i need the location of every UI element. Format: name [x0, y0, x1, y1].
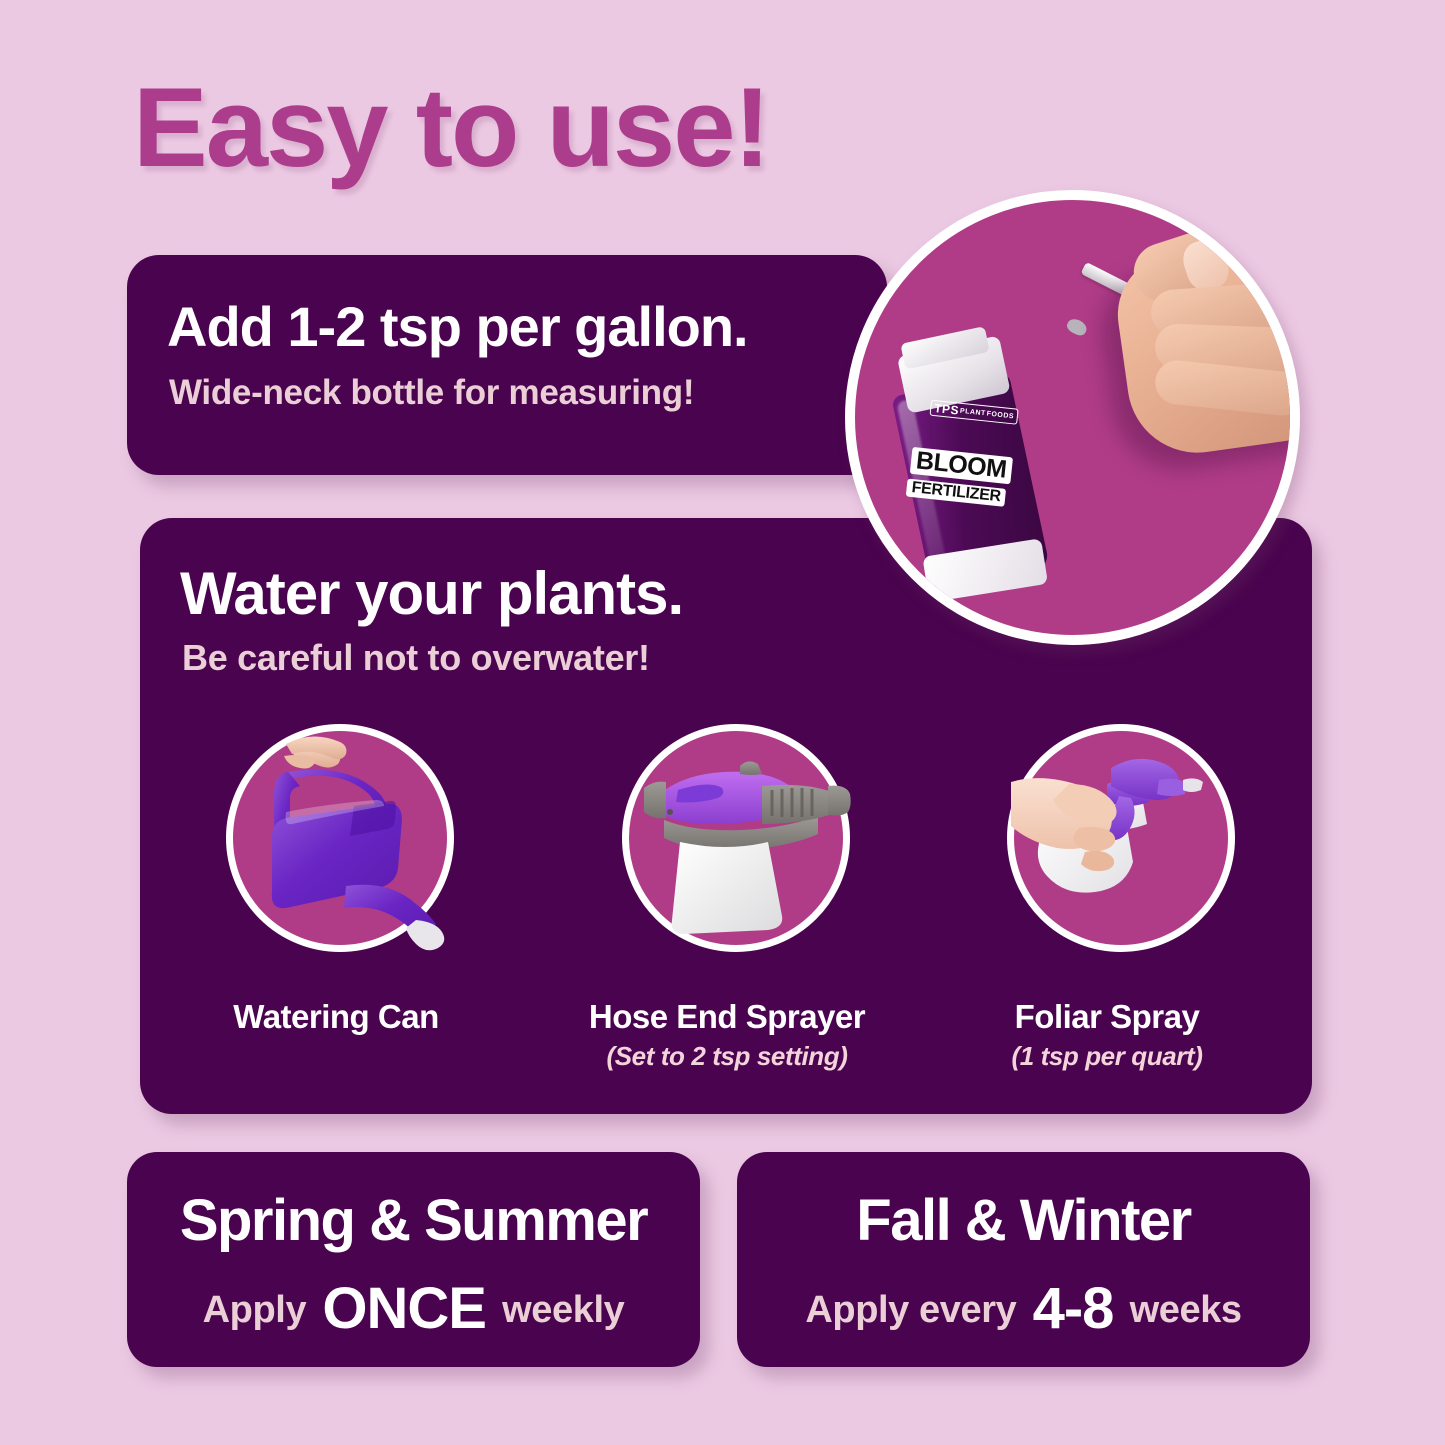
water-subheading: Be careful not to overwater! [182, 640, 650, 676]
method-caption-watering-can: Watering Can [166, 1000, 506, 1035]
dose-subheading: Wide-neck bottle for measuring! [169, 375, 694, 410]
water-heading: Water your plants. [180, 564, 683, 624]
infographic-canvas: Easy to use! Add 1-2 tsp per gallon. Wid… [0, 0, 1445, 1445]
frequency-suffix: weekly [502, 1289, 624, 1331]
frequency-prefix: Apply [203, 1289, 307, 1331]
frequency-emphasis: 4-8 [1027, 1276, 1120, 1341]
season-frequency: Apply ONCE weekly [127, 1280, 700, 1338]
method-label: Foliar Spray [1015, 998, 1200, 1035]
season-heading: Spring & Summer [127, 1192, 700, 1250]
dose-heading: Add 1-2 tsp per gallon. [167, 299, 748, 355]
brand-tagline-1: PLANT [960, 408, 986, 417]
method-label: Watering Can [233, 998, 438, 1035]
method-note: (Set to 2 tsp setting) [557, 1043, 897, 1070]
foliar-spray-circle [1007, 724, 1235, 952]
brand-name: TPS [934, 401, 960, 418]
hose-end-sprayer-circle [622, 724, 850, 952]
method-note: (1 tsp per quart) [937, 1043, 1277, 1070]
spoon-bowl [1065, 316, 1089, 338]
hero-product-circle: TPSPLANTFOODS BLOOM FERTILIZER [845, 190, 1300, 645]
method-caption-hose-end-sprayer: Hose End Sprayer (Set to 2 tsp setting) [557, 1000, 897, 1070]
dose-instruction-card: Add 1-2 tsp per gallon. Wide-neck bottle… [127, 255, 887, 475]
frequency-emphasis: ONCE [316, 1276, 492, 1341]
page-title: Easy to use! [133, 72, 769, 184]
brand-tagline-2: FOODS [986, 411, 1014, 420]
fall-winter-card: Fall & Winter Apply every 4-8 weeks [737, 1152, 1310, 1367]
season-frequency: Apply every 4-8 weeks [737, 1280, 1310, 1338]
frequency-prefix: Apply every [805, 1289, 1016, 1331]
hero-scene: TPSPLANTFOODS BLOOM FERTILIZER [855, 200, 1290, 635]
fertilizer-bottle: TPSPLANTFOODS BLOOM FERTILIZER [882, 329, 1059, 600]
method-caption-foliar-spray: Foliar Spray (1 tsp per quart) [937, 1000, 1277, 1070]
spring-summer-card: Spring & Summer Apply ONCE weekly [127, 1152, 700, 1367]
method-label: Hose End Sprayer [589, 998, 865, 1035]
season-heading: Fall & Winter [737, 1192, 1310, 1250]
frequency-suffix: weeks [1130, 1289, 1242, 1331]
watering-can-circle [226, 724, 454, 952]
